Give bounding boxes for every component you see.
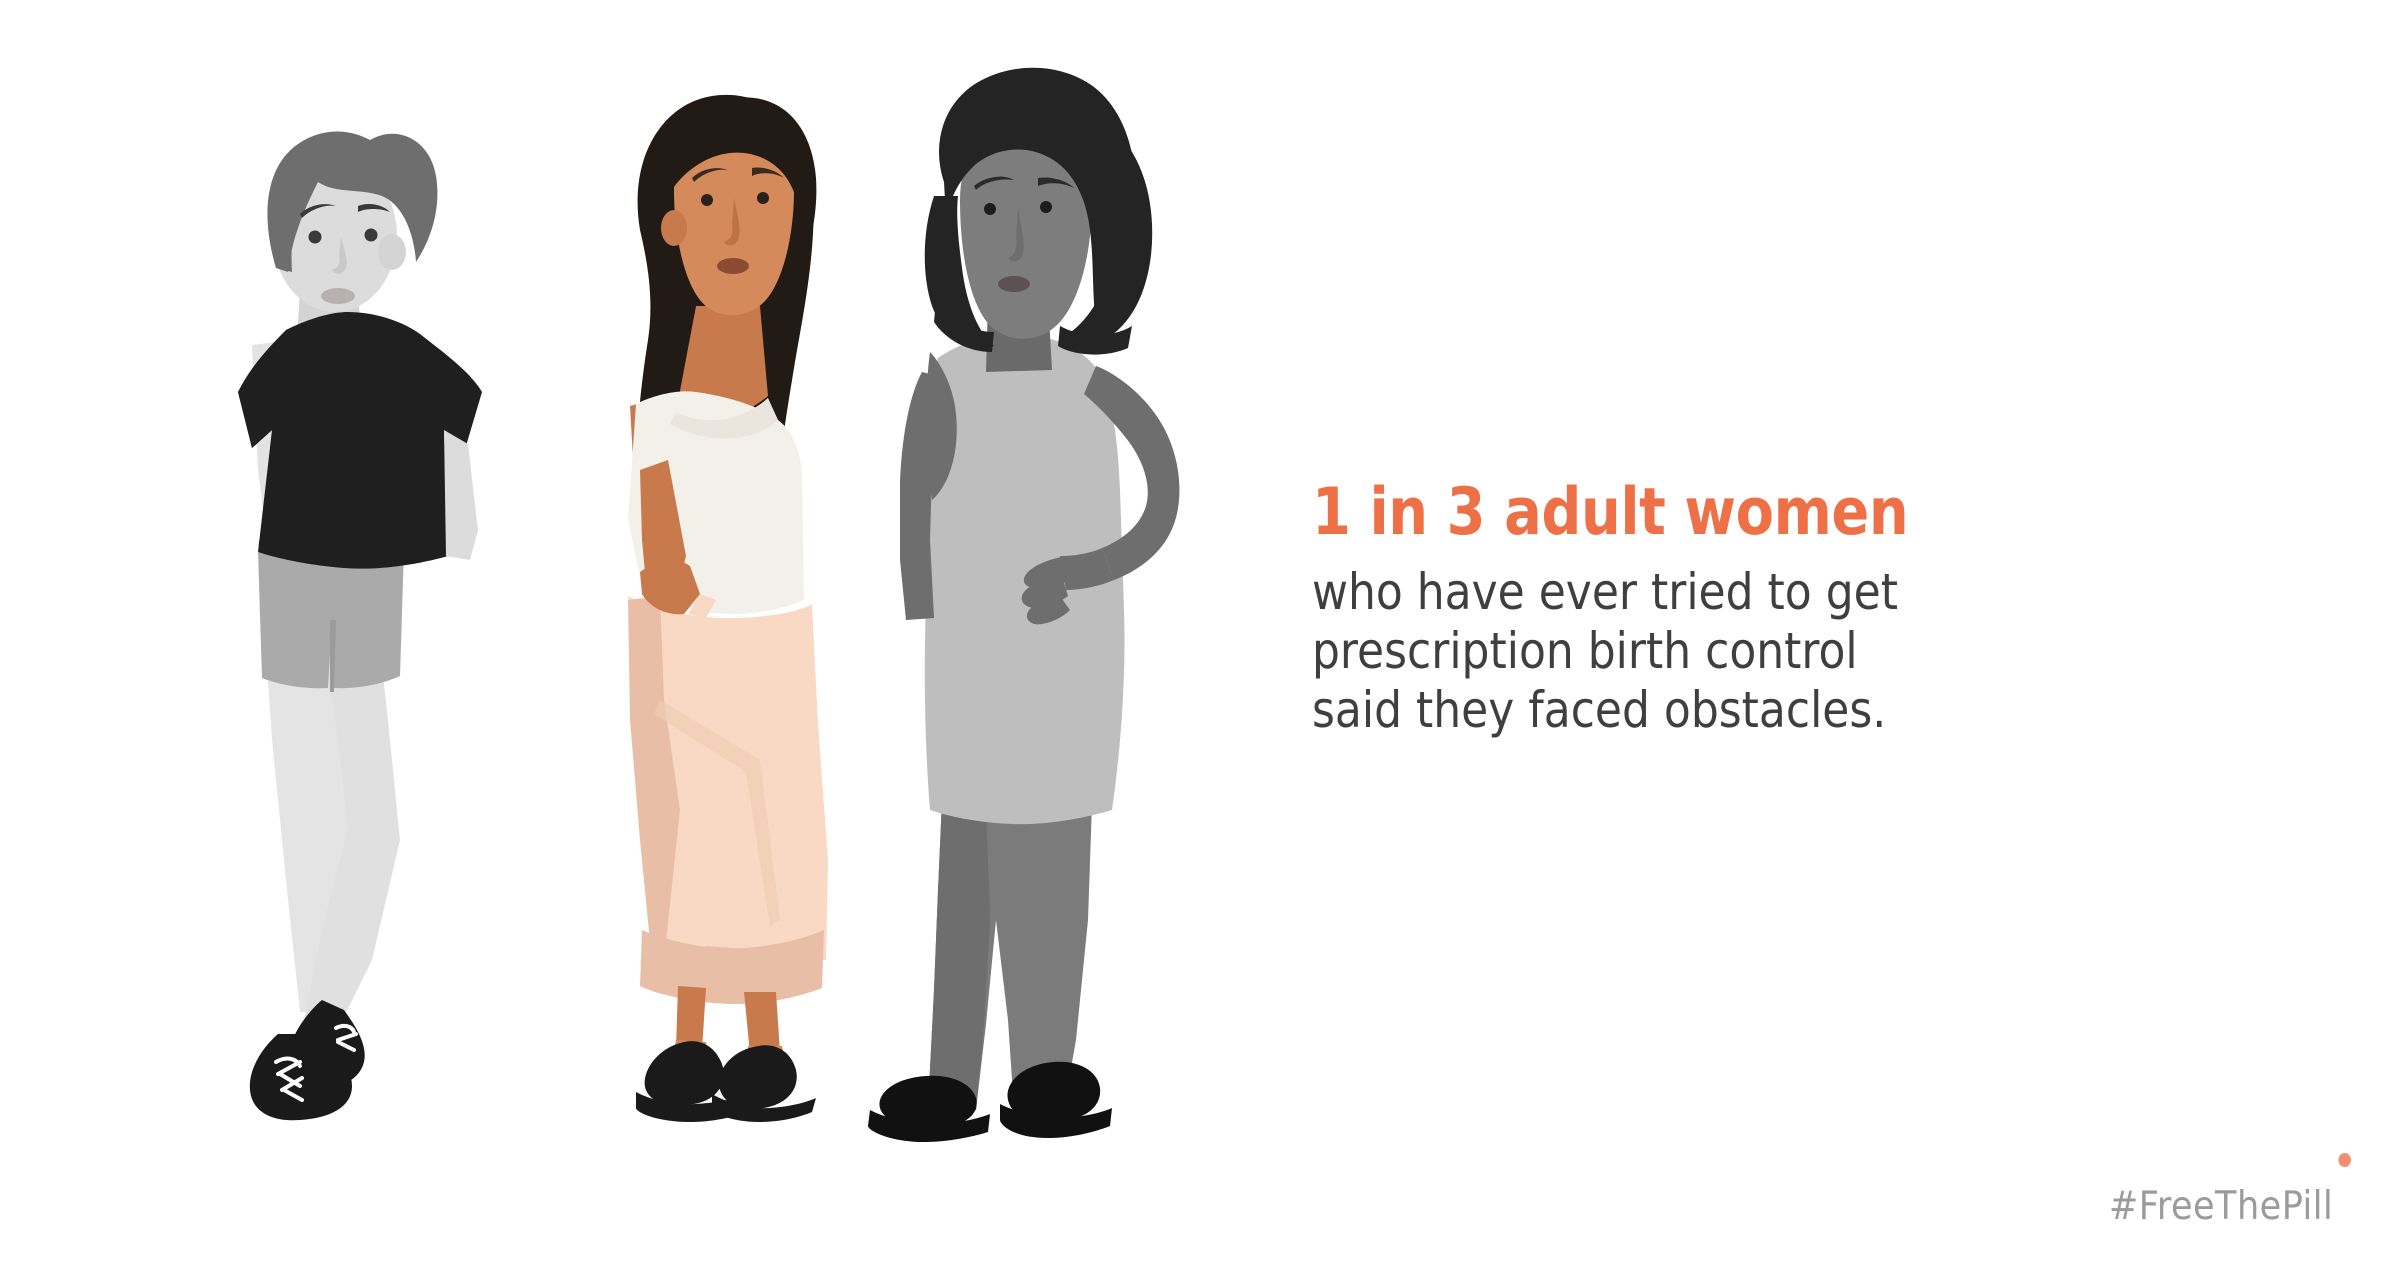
hashtag-tail-text: ll [2313,1184,2333,1229]
illustration-three-women [0,0,1290,1261]
figure-2-long-hair-cream-top [628,95,828,1122]
figure-1-short-hair-black-tee [238,132,482,1121]
hashtag-tail: ll [2313,1184,2333,1229]
hashtag-freethepill: #FreeThePi ll [2109,1184,2333,1229]
hashtag-head: #FreeThePi [2109,1184,2313,1229]
infographic-canvas: 1 in 3 adult women who have ever tried t… [0,0,2401,1261]
headline: 1 in 3 adult women [1312,480,1983,545]
hashtag-dot-icon [2339,1153,2352,1167]
figure-3-curly-hair-gray-dress [868,68,1179,1142]
subline: who have ever tried to get prescription … [1312,563,1998,740]
text-block: 1 in 3 adult women who have ever tried t… [1312,480,2092,740]
